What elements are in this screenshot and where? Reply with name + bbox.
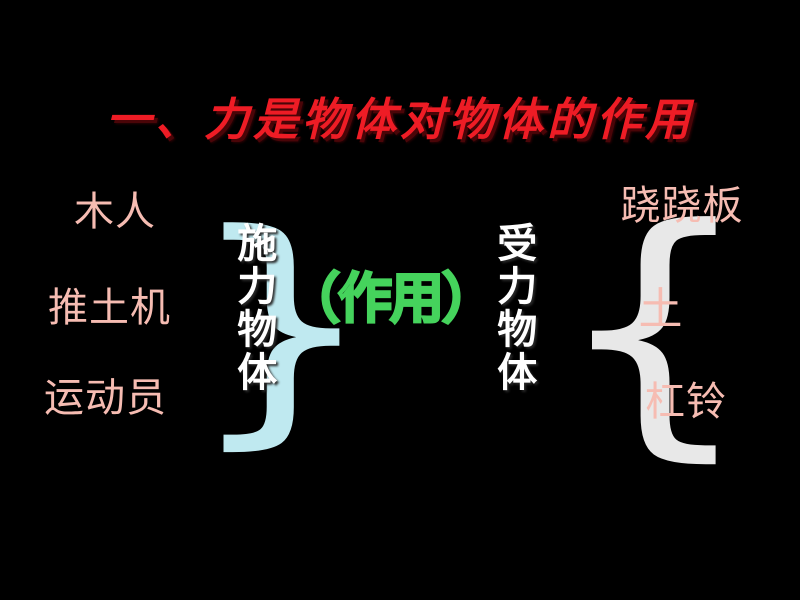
left-group-label: 施力物体: [232, 222, 275, 394]
center-action-label: （作用）: [280, 272, 500, 326]
right-item-2: 土: [596, 288, 726, 332]
left-item-2: 推土机: [48, 288, 171, 328]
left-item-3: 运动员: [44, 378, 167, 418]
left-item-1: 木人: [74, 192, 156, 232]
right-item-3: 杠铃: [606, 382, 766, 422]
right-group-label: 受力物体: [492, 222, 535, 394]
right-item-1: 跷跷板: [596, 186, 768, 226]
slide-canvas: 一、力是物体对物体的作用 木人 推土机 运动员 { 施力物体 （作用） 受力物体…: [0, 0, 800, 600]
page-title: 一、力是物体对物体的作用: [0, 96, 800, 143]
